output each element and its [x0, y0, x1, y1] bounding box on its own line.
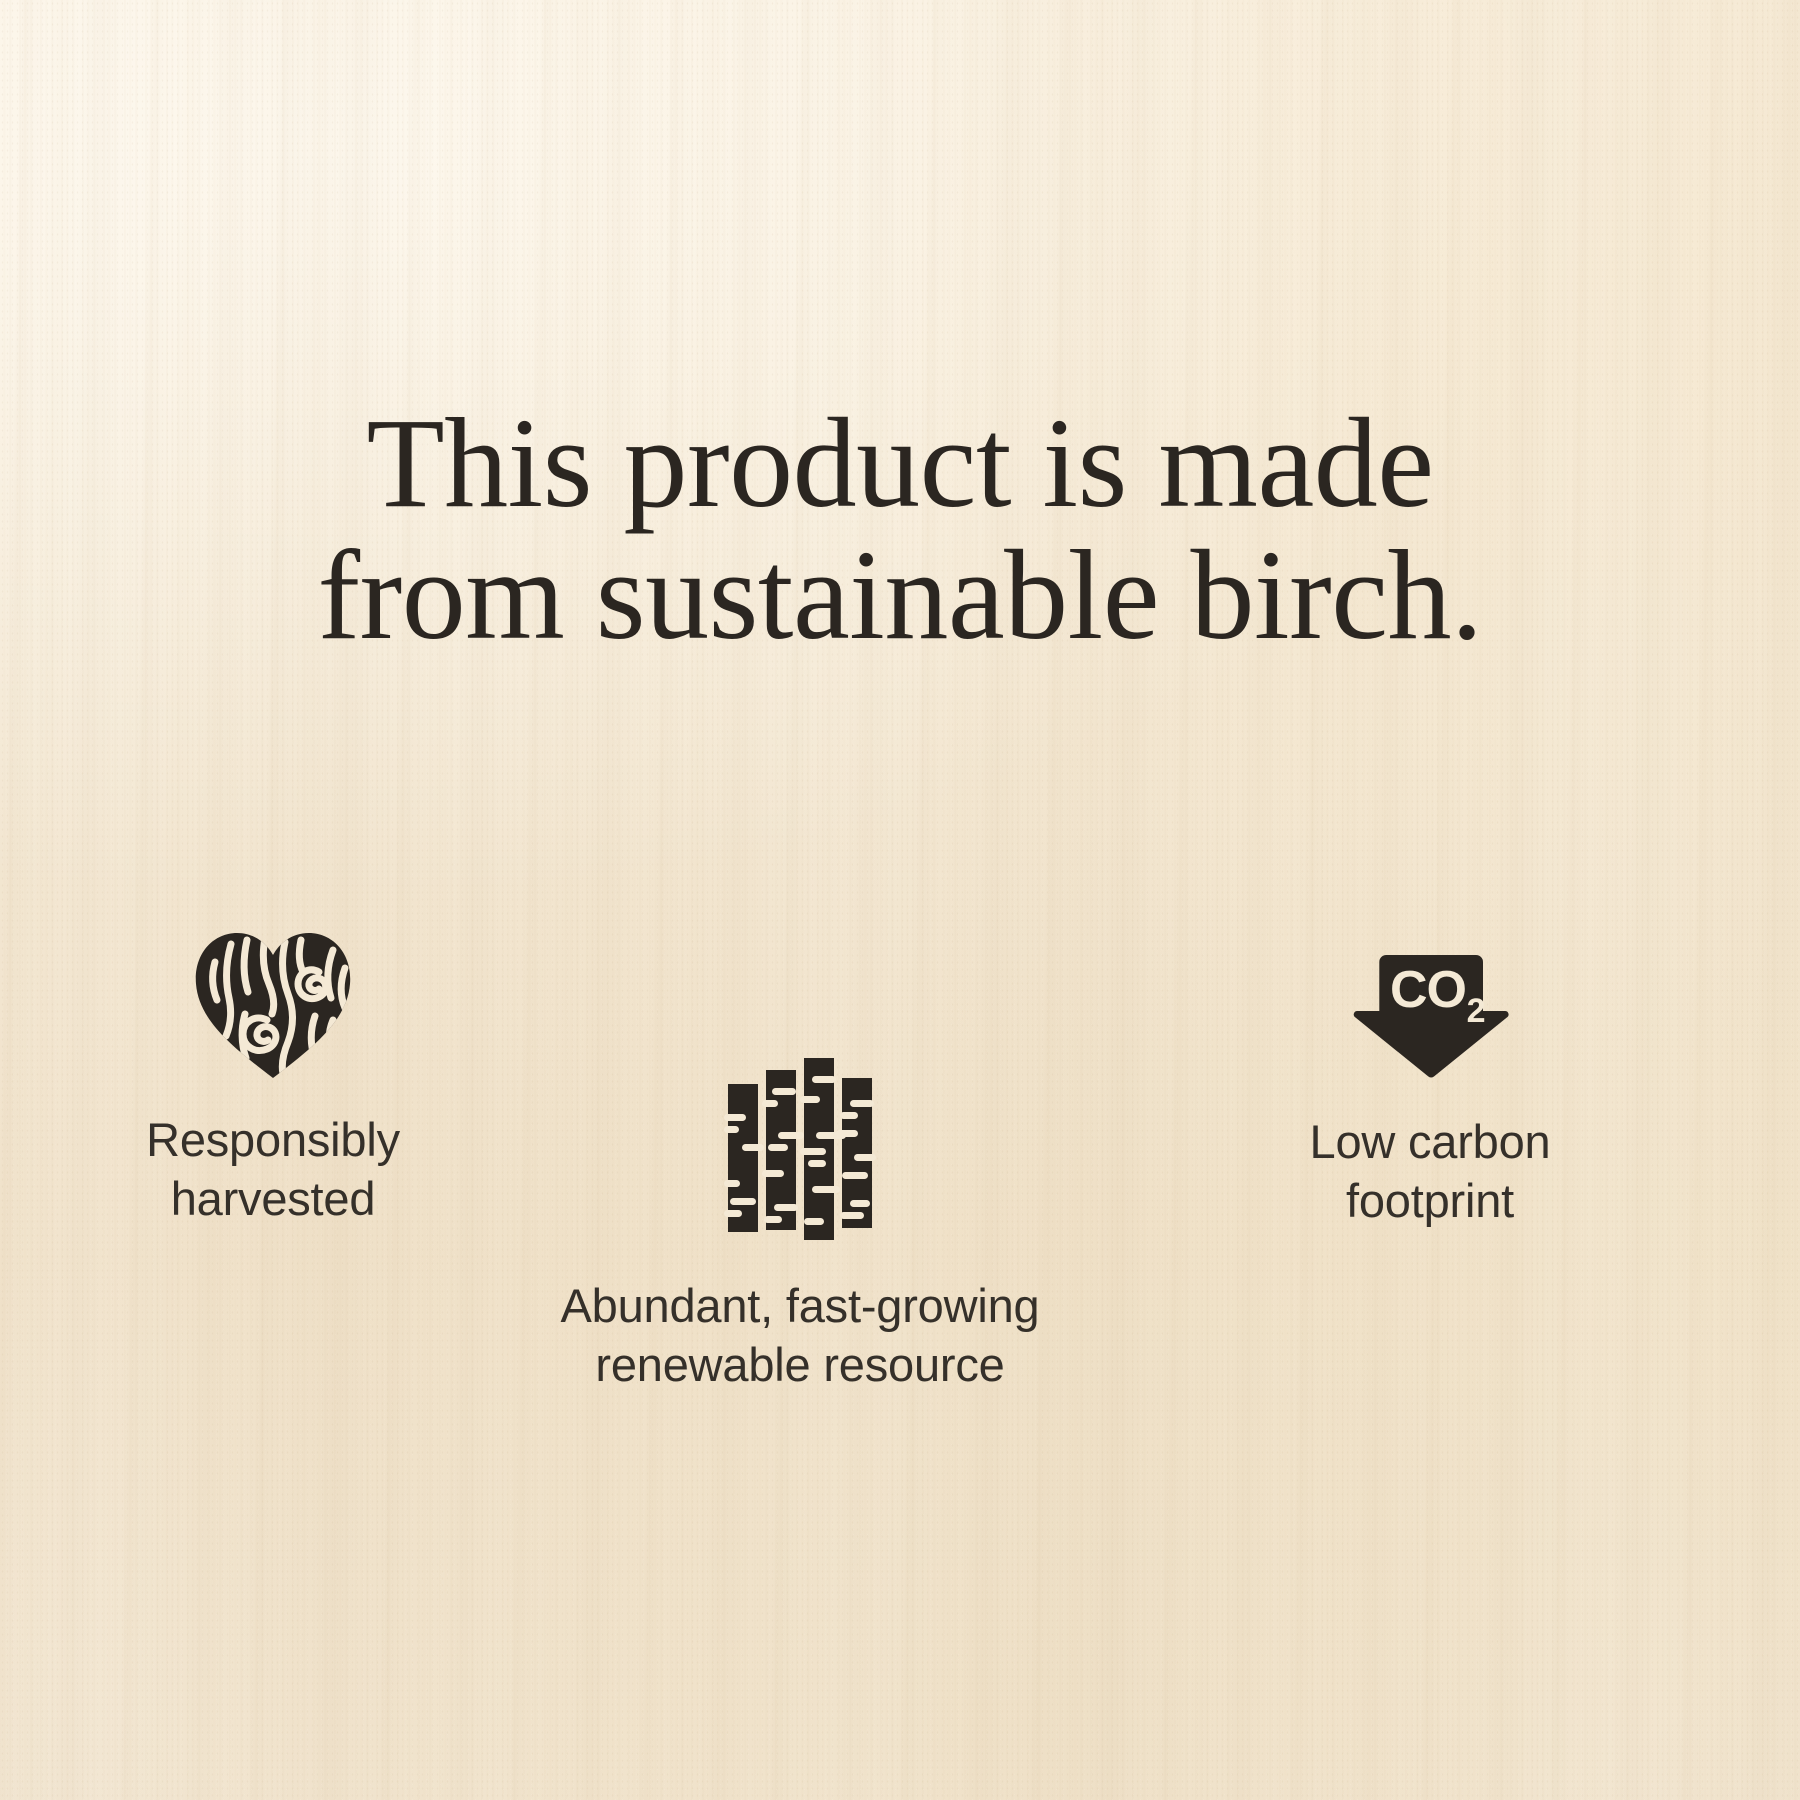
co2-down-arrow-icon: CO 2	[1230, 920, 1630, 1080]
feature-caption-line-1: Responsibly	[78, 1110, 468, 1169]
wood-grain-heart-icon	[78, 920, 468, 1080]
headline-line-2: from sustainable birch.	[0, 530, 1800, 662]
feature-responsibly-harvested: Responsibly harvested	[78, 920, 468, 1228]
poster-content: This product is made from sustainable bi…	[0, 0, 1800, 1800]
feature-low-carbon-footprint: CO 2 Low carbon footprint	[1230, 920, 1630, 1230]
feature-renewable-resource: Abundant, fast-growing renewable resourc…	[520, 1050, 1080, 1394]
co2-subscript: 2	[1467, 992, 1486, 1030]
feature-caption-line-1: Abundant, fast-growing	[520, 1276, 1080, 1335]
feature-caption-line-2: harvested	[78, 1169, 468, 1228]
birch-trees-icon	[520, 1050, 1080, 1240]
feature-caption-line-1: Low carbon	[1230, 1112, 1630, 1171]
page-title: This product is made from sustainable bi…	[0, 398, 1800, 662]
feature-caption-line-2: renewable resource	[520, 1335, 1080, 1394]
feature-caption-line-2: footprint	[1230, 1171, 1630, 1230]
headline-line-1: This product is made	[0, 398, 1800, 530]
sustainable-birch-poster: This product is made from sustainable bi…	[0, 0, 1800, 1800]
co2-label: CO	[1390, 961, 1466, 1019]
